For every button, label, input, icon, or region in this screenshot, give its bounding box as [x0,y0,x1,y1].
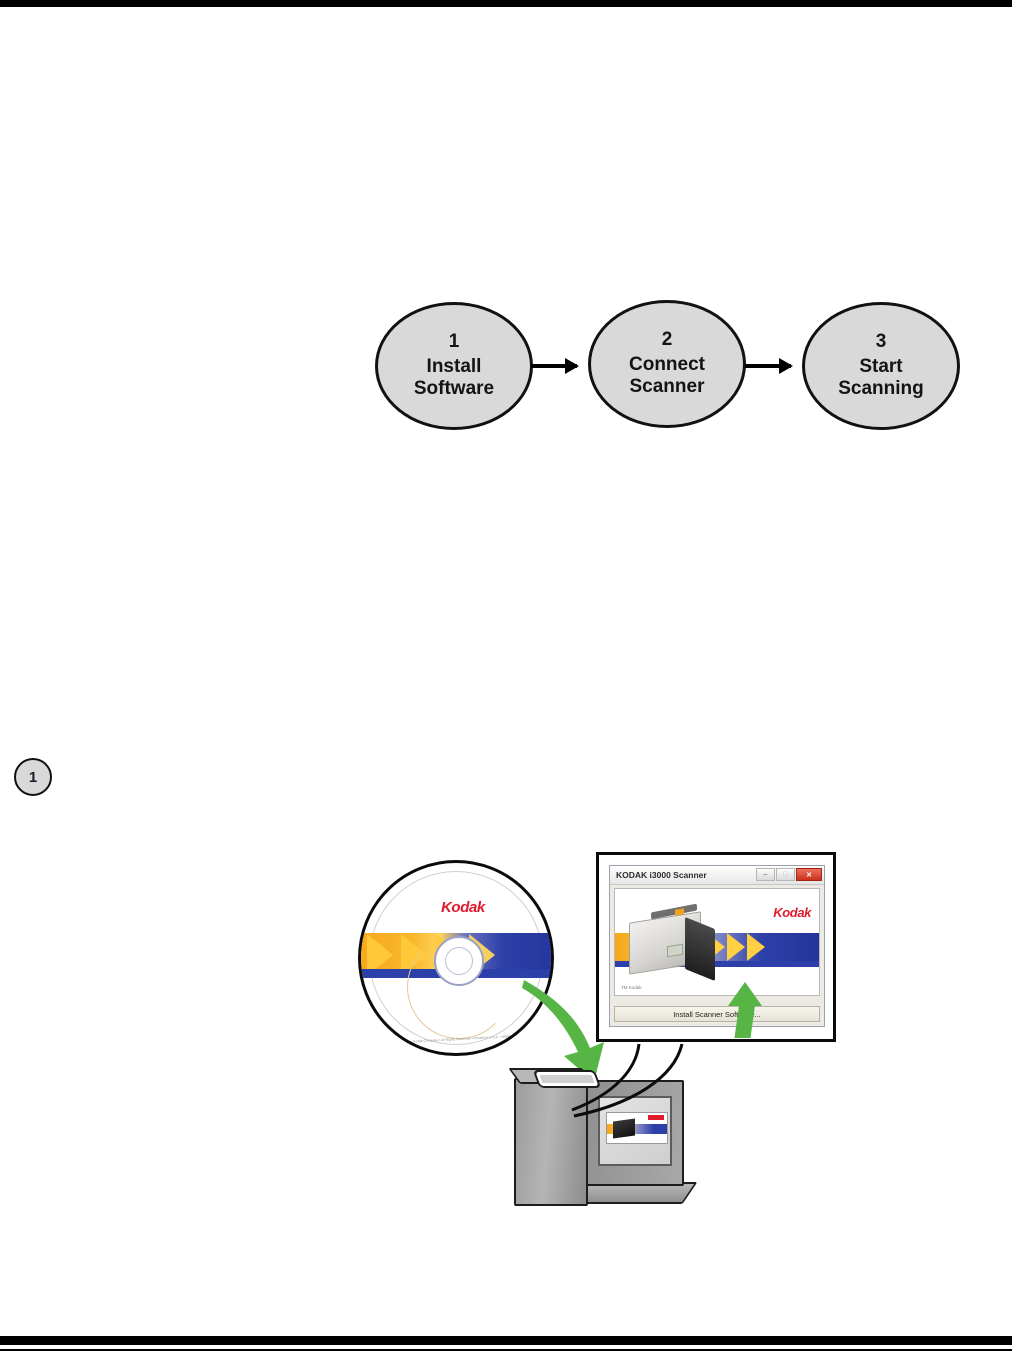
flow-node-label-line1: Install [427,356,482,378]
flow-node-label-line1: Connect [629,354,705,376]
flow-node-start-scanning: 3 Start Scanning [802,302,960,430]
cd-center-hole [445,947,473,975]
flow-node-label-line2: Software [414,378,494,400]
install-software-illustration: Kodak © Eastman Kodak Company • All Righ… [344,842,844,1212]
preview-kodak-logo [648,1115,664,1120]
dialog-splash-image: Kodak TM Kodak [614,888,820,996]
monitor-screen [598,1096,672,1166]
flow-node-number: 1 [449,331,460,353]
step-number-badge-label: 1 [29,769,37,786]
dialog-title-bar: KODAK i3000 Scanner – □ ✕ [610,866,824,885]
kodak-scanner-dialog: KODAK i3000 Scanner – □ ✕ [609,865,825,1027]
page-bottom-rule-thin [0,1349,1012,1351]
flow-node-label-line2: Scanner [630,376,705,398]
scanner-product-image [629,903,715,981]
computer-monitor [580,1080,684,1186]
flow-node-install-software: 1 Install Software [375,302,533,430]
splash-chevron-icon [727,933,745,961]
flow-node-label-line1: Start [859,356,902,378]
maximize-icon[interactable]: □ [776,868,795,881]
window-controls: – □ ✕ [756,868,822,881]
workflow-flowchart: 1 Install Software 2 Connect Scanner 3 S… [370,296,970,436]
cd-tray-slot[interactable] [535,1072,598,1086]
preview-scanner-image [613,1118,635,1138]
document-page: 1 Install Software 2 Connect Scanner 3 S… [0,0,1012,1360]
minimize-icon[interactable]: – [756,868,775,881]
screen-dialog-preview [606,1112,668,1144]
install-scanner-software-button[interactable]: Install Scanner Software... [614,1006,820,1022]
page-top-rule [0,0,1012,7]
close-icon[interactable]: ✕ [796,868,822,881]
flow-node-number: 2 [662,329,673,351]
splash-kodak-logo: Kodak [773,905,811,920]
flow-node-number: 3 [876,331,887,353]
green-arrow-up-icon [728,982,762,1038]
scanner-front-panel [685,917,715,981]
page-bottom-rule-thick [0,1336,1012,1345]
computer-illustration [510,1060,700,1212]
flow-arrow-1-to-2 [531,364,577,368]
computer-tower [514,1078,588,1206]
splash-chevron-icon [747,933,765,961]
dialog-title-text: KODAK i3000 Scanner [616,870,707,880]
green-arrow-shaft [734,1002,755,1038]
flow-arrow-2-to-3 [745,364,791,368]
flow-node-label-line2: Scanning [838,378,924,400]
cd-kodak-logo: Kodak [441,899,485,916]
flow-node-connect-scanner: 2 Connect Scanner [588,300,746,428]
step-number-badge: 1 [14,758,52,796]
